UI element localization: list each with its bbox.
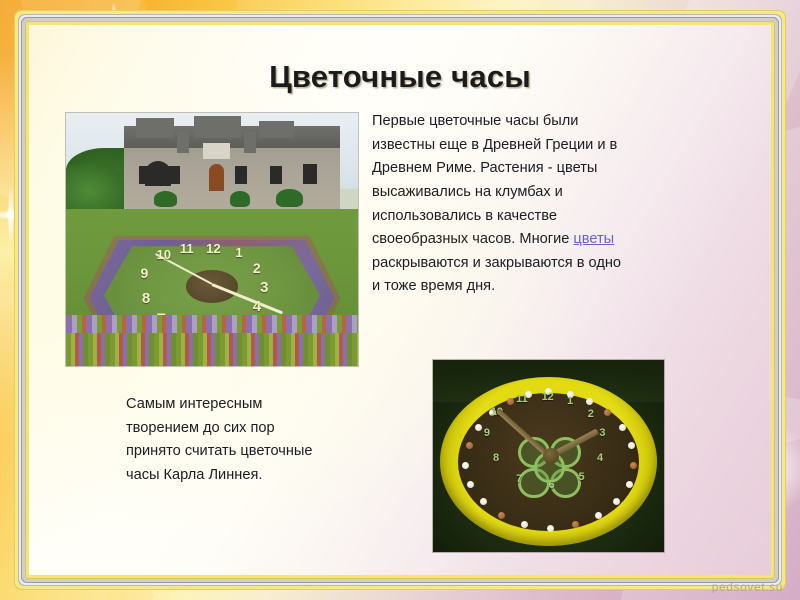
slide-canvas: Цветочные часы [0,0,800,600]
shrub [276,189,302,207]
paragraph-history: Первые цветочные часы были известны еще … [372,110,627,299]
manor-chimney [244,131,256,154]
minute-dot [586,398,593,405]
minute-dot [613,498,620,505]
tulip-row [66,333,358,366]
clock-numeral: 12 [206,241,220,256]
minute-dot [480,498,487,505]
page-title: Цветочные часы [29,59,771,95]
manor-door [209,164,224,192]
clock-numeral: 6 [549,479,555,491]
manor-window [303,164,318,184]
minute-dot [547,525,554,532]
manor-gable [259,121,294,139]
clock-numeral: 4 [597,452,603,464]
manor-gable [194,116,241,139]
clock-numeral: 10 [157,247,171,262]
hedge [66,164,124,210]
clock-numeral: 11 [180,241,194,256]
photo-manor-flower-clock: 12 1 2 3 4 5 6 7 8 9 10 11 [66,113,358,366]
manor-chimney [177,131,189,154]
flowers-link[interactable]: цветы [573,231,614,247]
manor-window [270,166,282,184]
manor-window [203,143,229,158]
watermark: pedsovet.su [712,580,783,594]
minute-dot [630,462,637,469]
paragraph-linnaeus: Самым интересным творением до сих пор пр… [126,393,331,488]
manor-entry-arch [145,161,171,186]
clock-numeral: 9 [484,427,490,439]
minute-dot [572,521,579,528]
clock-numeral: 1 [567,395,573,407]
minute-dot [466,442,473,449]
clock-numeral: 12 [542,391,554,403]
manor-window [235,166,247,184]
clock-numeral: 8 [142,290,150,307]
minute-dot [604,409,611,416]
minute-dot [595,512,602,519]
clock-numeral: 8 [493,452,499,464]
clock-numeral: 11 [516,393,528,405]
minute-dot [628,442,635,449]
clock-numeral: 7 [516,473,522,485]
decorative-frame: Цветочные часы [26,22,774,578]
minute-dot [475,424,482,431]
clock-hub [543,448,559,463]
tulip-row [66,315,358,333]
clock-numeral: 2 [588,408,594,420]
manor-gable [136,118,174,138]
clock-numeral: 1 [235,245,242,260]
minute-dot [462,462,469,469]
paragraph-history-part2: раскрываются и закрываются в одно и тоже… [372,255,621,295]
shrub [230,191,250,206]
shrub [154,191,177,206]
clock-numeral: 3 [599,427,605,439]
minute-dot [521,521,528,528]
minute-dot [619,424,626,431]
clock-numeral: 4 [253,298,261,315]
paragraph-history-part1: Первые цветочные часы были известны еще … [372,113,617,247]
clock-numeral: 2 [253,260,261,276]
minute-dot [626,481,633,488]
photo-round-flower-clock: 12 1 2 3 4 5 6 7 8 9 10 11 [433,360,664,552]
minute-dot [467,481,474,488]
minute-dot [498,512,505,519]
clock-numeral: 5 [579,471,585,483]
clock-numeral: 3 [260,279,268,296]
slide-content: Цветочные часы [29,25,771,575]
minute-dot [507,398,514,405]
clock-numeral: 9 [140,265,148,281]
